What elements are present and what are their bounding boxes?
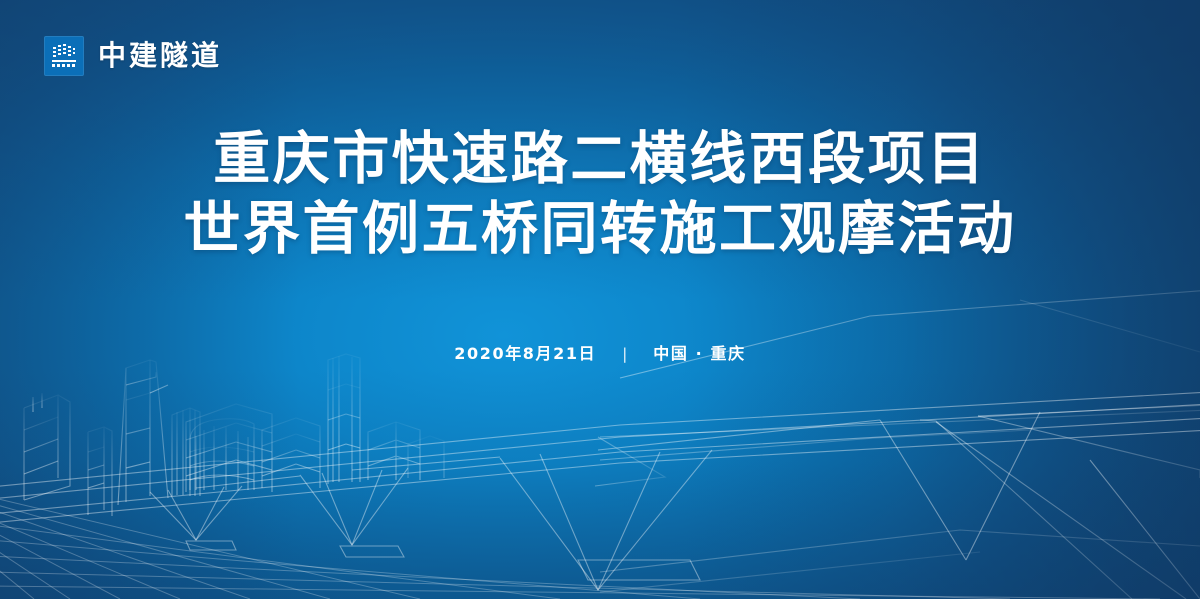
wireframe-bridge-viaduct — [0, 392, 1200, 590]
wireframe-city-skyline — [24, 354, 444, 516]
brand-name: 中建隧道 — [98, 42, 222, 70]
event-meta: 2020年8月21日 | 中国 · 重庆 — [0, 346, 1200, 362]
title-line-2: 世界首例五桥同转施工观摩活动 — [0, 194, 1200, 264]
title-line-1: 重庆市快速路二横线西段项目 — [0, 124, 1200, 194]
event-location: 中国 · 重庆 — [653, 346, 745, 362]
cscec-logo-icon — [44, 36, 84, 76]
event-date: 2020年8月21日 — [454, 346, 596, 362]
background-artwork — [0, 0, 1200, 599]
meta-separator: | — [622, 347, 627, 362]
banner-canvas: 中建隧道 重庆市快速路二横线西段项目 世界首例五桥同转施工观摩活动 2020年8… — [0, 0, 1200, 599]
abstract-geometric-lines — [595, 290, 1200, 599]
brand-logo[interactable]: 中建隧道 — [44, 36, 222, 76]
event-title: 重庆市快速路二横线西段项目 世界首例五桥同转施工观摩活动 — [0, 124, 1200, 264]
